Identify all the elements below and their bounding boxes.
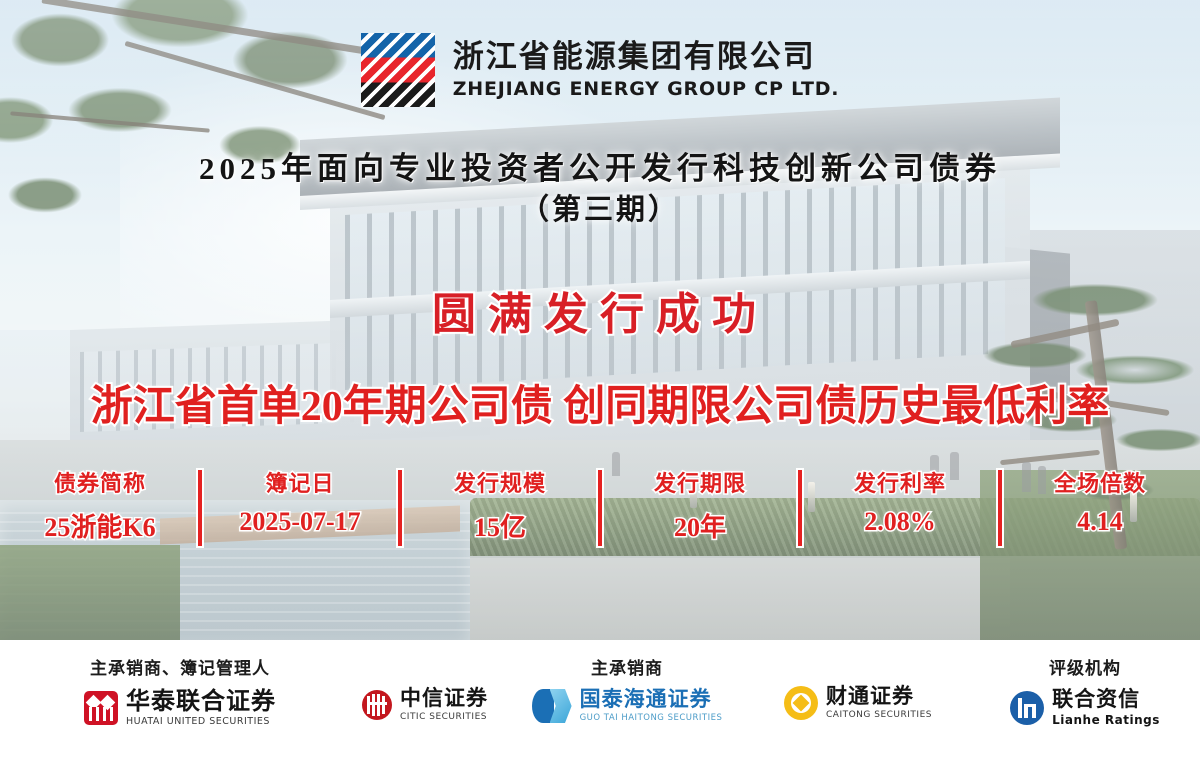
partner-name-cn: 中信证券 [400, 688, 488, 709]
partner-name-en: HUATAI UNITED SECURITIES [126, 717, 276, 727]
partner-logo: 华泰联合证券 HUATAI UNITED SECURITIES [84, 689, 276, 727]
partner-name-block: 联合资信 Lianhe Ratings [1052, 689, 1160, 726]
partner-name-cn: 联合资信 [1052, 689, 1160, 710]
partner-logo: 财通证券 CAITONG SECURITIES [784, 686, 932, 720]
partner-huatai: 主承销商、簿记管理人 华泰联合证券 HUATAI UNITED SECURITI… [55, 654, 305, 727]
stat-label: 发行利率 [854, 466, 946, 498]
bond-issuance-poster: 浙江省能源集团有限公司 ZHEJIANG ENERGY GROUP CP LTD… [0, 0, 1200, 775]
partner-name-en: GUO TAI HAITONG SECURITIES [580, 714, 723, 723]
stat-value: 20年 [674, 507, 726, 544]
huatai-logo-icon [84, 691, 118, 725]
partner-guotai-haitong: 主承销商 国泰海通证券 GUO TAI HAITONG SECURITIES [512, 654, 742, 723]
footer-partners: 主承销商、簿记管理人 华泰联合证券 HUATAI UNITED SECURITI… [0, 640, 1200, 775]
stat-item: 簿记日 2025-07-17 [200, 466, 400, 544]
citic-logo-icon [362, 690, 392, 720]
partner-caitong: 财通证券 CAITONG SECURITIES [758, 686, 958, 720]
partner-name-block: 中信证券 CITIC SECURITIES [400, 688, 488, 722]
caitong-logo-icon [784, 686, 818, 720]
partner-name-cn: 财通证券 [826, 686, 932, 707]
partner-name-en: CAITONG SECURITIES [826, 711, 932, 720]
company-logo-row: 浙江省能源集团有限公司 ZHEJIANG ENERGY GROUP CP LTD… [0, 33, 1200, 107]
partner-name-block: 财通证券 CAITONG SECURITIES [826, 686, 932, 720]
partner-logo: 中信证券 CITIC SECURITIES [362, 688, 488, 722]
footer-grid: 主承销商、簿记管理人 华泰联合证券 HUATAI UNITED SECURITI… [0, 640, 1200, 775]
partner-caption: 评级机构 [1049, 654, 1121, 679]
partner-name-cn: 国泰海通证券 [580, 689, 723, 710]
partner-caption: 主承销商、簿记管理人 [90, 654, 270, 679]
company-name-block: 浙江省能源集团有限公司 ZHEJIANG ENERGY GROUP CP LTD… [453, 42, 840, 99]
lianhe-ratings-logo-icon [1010, 691, 1044, 725]
subheadline-text: 浙江省首单20年期公司债 创同期限公司债历史最低利率 [0, 372, 1200, 433]
stat-label: 发行期限 [654, 466, 746, 498]
stat-label: 全场倍数 [1054, 466, 1146, 498]
stat-value: 2.08% [864, 507, 936, 537]
stat-item: 发行规模 15亿 [400, 466, 600, 544]
poster-title: 2025年面向专业投资者公开发行科技创新公司债券 （第三期） [0, 150, 1200, 232]
company-name-cn: 浙江省能源集团有限公司 [453, 42, 840, 73]
stat-item: 发行期限 20年 [600, 466, 800, 544]
poster-content: 浙江省能源集团有限公司 ZHEJIANG ENERGY GROUP CP LTD… [0, 0, 1200, 640]
stat-item: 债券简称 25浙能K6 [0, 466, 200, 544]
stat-value: 4.14 [1077, 507, 1123, 537]
headline-text: 圆满发行成功 [0, 278, 1200, 342]
stat-value: 2025-07-17 [239, 507, 360, 537]
stat-label: 债券简称 [54, 466, 146, 498]
partner-name-block: 华泰联合证券 HUATAI UNITED SECURITIES [126, 689, 276, 727]
guotai-haitong-logo-icon [532, 689, 572, 723]
logo-stripe-fade [361, 33, 435, 107]
partner-logo: 联合资信 Lianhe Ratings [1010, 689, 1160, 726]
stat-label: 发行规模 [454, 466, 546, 498]
partner-name-en: Lianhe Ratings [1052, 714, 1160, 726]
stats-row: 债券简称 25浙能K6 簿记日 2025-07-17 发行规模 15亿 发行期限… [0, 466, 1200, 544]
partner-name-en: CITIC SECURITIES [400, 713, 488, 722]
partner-citic: 中信证券 CITIC SECURITIES [335, 688, 515, 722]
company-name-en: ZHEJIANG ENERGY GROUP CP LTD. [453, 80, 840, 99]
stat-item: 发行利率 2.08% [800, 466, 1000, 544]
partner-caption: 主承销商 [591, 654, 663, 679]
stat-item: 全场倍数 4.14 [1000, 466, 1200, 544]
stat-label: 簿记日 [265, 466, 334, 498]
title-line-2: （第三期） [0, 189, 1200, 233]
partner-lianhe-ratings: 评级机构 联合资信 Lianhe Ratings [985, 654, 1185, 726]
stat-value: 15亿 [474, 507, 526, 544]
partner-name-cn: 华泰联合证券 [126, 689, 276, 713]
partner-name-block: 国泰海通证券 GUO TAI HAITONG SECURITIES [580, 689, 723, 723]
title-line-1: 2025年面向专业投资者公开发行科技创新公司债券 [0, 150, 1200, 189]
partner-logo: 国泰海通证券 GUO TAI HAITONG SECURITIES [532, 689, 723, 723]
stat-value: 25浙能K6 [44, 507, 155, 544]
zhejiang-energy-logo-icon [361, 33, 435, 107]
